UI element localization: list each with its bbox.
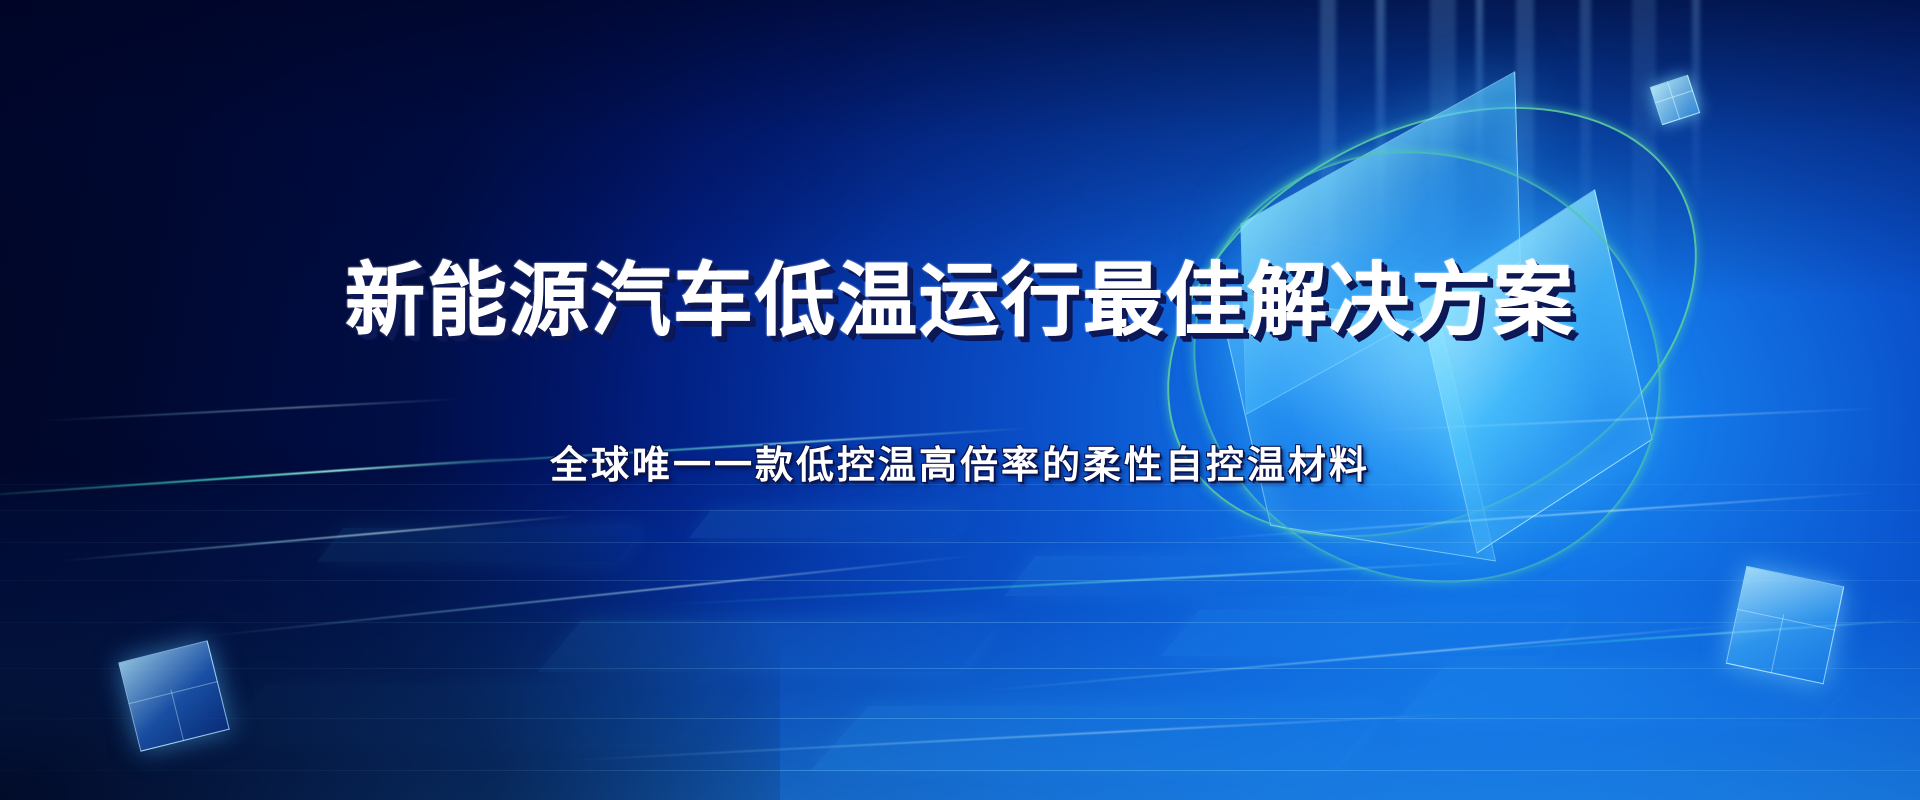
page-subtitle: 全球唯一一款低控温高倍率的柔性自控温材料 <box>0 434 1920 489</box>
background-corner-shade <box>0 440 780 800</box>
page-title: 新能源汽车低温运行最佳解决方案 <box>0 236 1920 352</box>
hero-banner: 新能源汽车低温运行最佳解决方案 全球唯一一款低控温高倍率的柔性自控温材料 <box>0 0 1920 800</box>
cube-icon-bottom-right <box>1726 566 1845 685</box>
